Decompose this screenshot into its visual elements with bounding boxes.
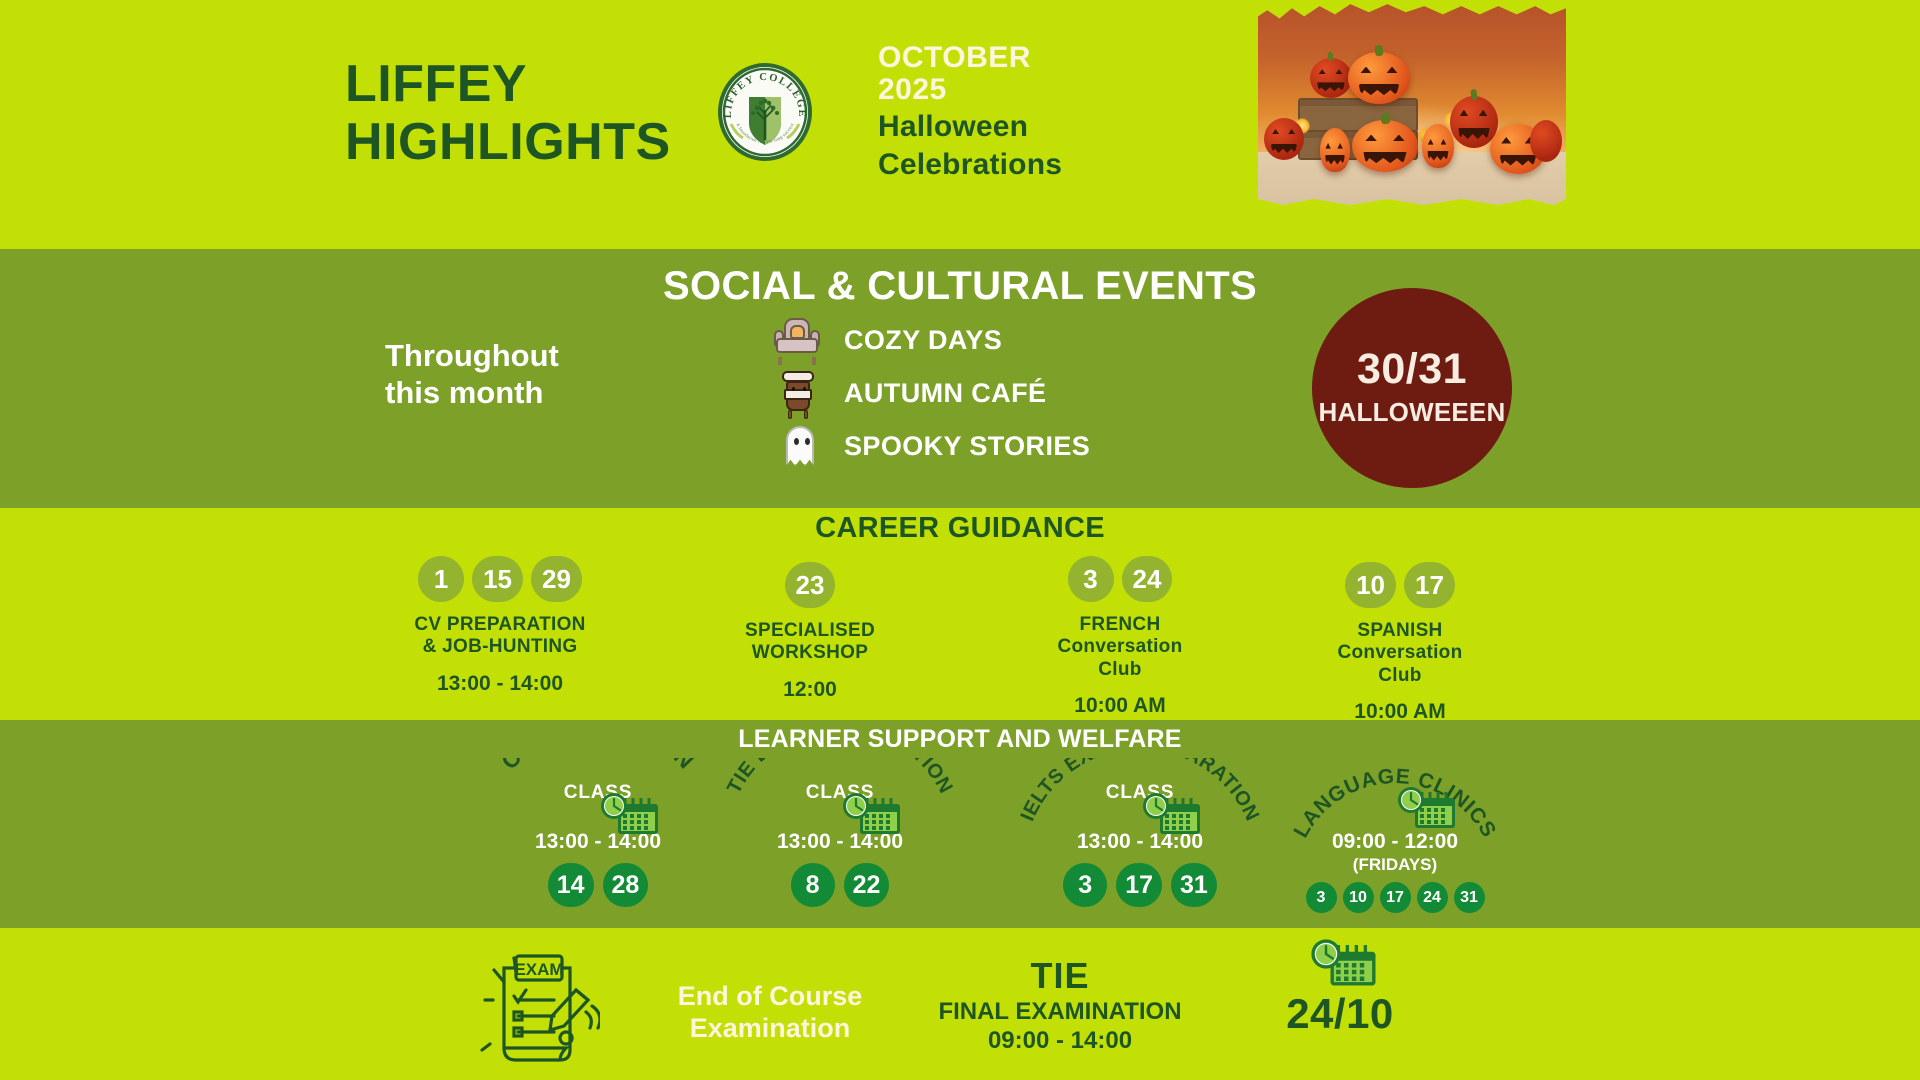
date-badge[interactable]: 31 [1171,863,1217,907]
social-item-label: COZY DAYS [844,325,1002,356]
date-badge-group: 8 22 [700,863,980,907]
career-column-cv: 1 15 29 CV PREPARATION & JOB-HUNTING 13:… [390,556,610,696]
date-pill-group: 3 24 [1000,556,1240,602]
list-item: AUTUMN CAFÉ [770,367,1090,419]
date-badge[interactable]: 8 [791,863,835,907]
date-pill[interactable]: 15 [472,556,523,602]
career-name-line2: WORKSHOP [700,642,920,664]
social-frequency-line1: Throughout [385,338,645,375]
list-item: SPOOKY STORIES [770,420,1090,472]
date-badge[interactable]: 17 [1380,882,1411,913]
career-name-line3: Club [1000,659,1240,681]
career-column-workshop: 23 SPECIALISED WORKSHOP 12:00 [700,562,920,702]
calendar-clock-icon [1308,938,1380,993]
learner-column-conversation: CONVERSATION CLASS [458,758,738,907]
year-label: 2025 [878,74,1062,106]
date-pill-group: 1 15 29 [390,556,610,602]
date-badge[interactable]: 3 [1063,863,1107,907]
date-pill[interactable]: 29 [531,556,582,602]
armchair-icon [770,314,828,366]
page-title-line1: LIFFEY [345,55,671,113]
date-badge[interactable]: 10 [1343,882,1374,913]
halloween-date-badge: 30/31 HALLOWEEEN [1312,288,1512,488]
career-name-line1: CV PREPARATION [390,614,610,636]
career-event-name: SPECIALISED WORKSHOP [700,620,920,665]
date-pill[interactable]: 3 [1068,556,1114,602]
date-badge-group: 3 10 17 24 31 [1255,882,1535,913]
date-badge[interactable]: 28 [603,863,649,907]
month-label: OCTOBER [878,42,1062,74]
career-event-name: SPANISH Conversation Club [1280,620,1520,687]
tie-heading: TIE [900,955,1220,997]
career-guidance-title: CAREER GUIDANCE [0,512,1920,545]
ghost-icon [770,420,828,472]
career-event-time: 13:00 - 14:00 [390,672,610,696]
header-band: LIFFEY HIGHLIGHTS LIFFEY COLLEGE [0,0,1920,247]
social-item-label: AUTUMN CAFÉ [844,378,1046,409]
career-column-french: 3 24 FRENCH Conversation Club 10:00 AM [1000,556,1240,718]
exam-date: 24/10 [1240,990,1440,1038]
career-name-line1: SPECIALISED [700,620,920,642]
date-badge-group: 14 28 [458,863,738,907]
learner-support-title: LEARNER SUPPORT AND WELFARE [0,725,1920,754]
career-event-name: CV PREPARATION & JOB-HUNTING [390,614,610,659]
liffey-college-logo: LIFFEY COLLEGE A foundation for life-lon… [715,62,815,162]
header-sub-line1: Halloween [878,110,1062,145]
date-pill[interactable]: 23 [785,562,836,608]
career-event-time: 10:00 AM [1000,694,1240,718]
date-pill[interactable]: 10 [1345,562,1396,608]
social-events-title: SOCIAL & CULTURAL EVENTS [0,264,1920,309]
learner-note: (FRIDAYS) [1255,855,1535,875]
date-pill[interactable]: 1 [418,556,464,602]
arc-heading: IELTS EXAM PREPARATION CLASS [1000,758,1280,846]
learner-column-tie: TIE EXAM PREPARATION CLASS [700,758,980,907]
exam-paper-pencil-icon: EXAM [470,942,600,1069]
exam-label-line1: End of Course [640,980,900,1012]
social-item-label: SPOOKY STORIES [844,431,1090,462]
date-badge[interactable]: 14 [548,863,594,907]
halloween-badge-date: 30/31 [1357,348,1467,391]
page-title-line2: HIGHLIGHTS [345,113,671,171]
arc-heading: CONVERSATION CLASS [458,758,738,846]
list-item: COZY DAYS [770,314,1090,366]
halloween-pumpkins-photo [1258,0,1566,205]
career-name-line2: Conversation [1280,642,1520,664]
month-block: OCTOBER 2025 Halloween Celebrations [878,42,1062,182]
newsletter-page: LIFFEY HIGHLIGHTS LIFFEY COLLEGE [0,0,1920,1080]
arc-heading: LANGUAGE CLINICS [1255,758,1535,846]
exam-label-line2: Examination [640,1012,900,1044]
date-pill[interactable]: 17 [1404,562,1455,608]
date-badge[interactable]: 24 [1417,882,1448,913]
page-title: LIFFEY HIGHLIGHTS [345,55,671,171]
date-badge[interactable]: 22 [844,863,890,907]
social-frequency-line2: this month [385,375,645,412]
header-sub-line2: Celebrations [878,148,1062,183]
career-column-spanish: 10 17 SPANISH Conversation Club 10:00 AM [1280,562,1520,724]
tie-sub-line1: FINAL EXAMINATION [900,999,1220,1026]
career-name-line2: Conversation [1000,636,1240,658]
date-badge[interactable]: 17 [1116,863,1162,907]
date-pill[interactable]: 24 [1122,556,1173,602]
career-event-time: 12:00 [700,678,920,702]
date-pill-group: 10 17 [1280,562,1520,608]
date-badge[interactable]: 3 [1306,882,1337,913]
arc-heading: TIE EXAM PREPARATION CLASS [700,758,980,846]
tie-sub-line2: 09:00 - 14:00 [900,1028,1220,1055]
career-name-line1: FRENCH [1000,614,1240,636]
learner-column-ielts: IELTS EXAM PREPARATION CLASS [1000,758,1280,907]
learner-column-language-clinics: LANGUAGE CLINICS [1255,758,1535,913]
arc-text: CONVERSATION [496,758,700,774]
career-name-line3: Club [1280,665,1520,687]
career-name-line1: SPANISH [1280,620,1520,642]
exam-icon-word: EXAM [514,960,563,979]
svg-text:CONVERSATION: CONVERSATION [496,758,700,774]
coffee-cup-icon [770,367,828,419]
career-name-line2: & JOB-HUNTING [390,636,610,658]
date-badge-group: 3 17 31 [1000,863,1280,907]
exam-label: End of Course Examination [640,980,900,1045]
date-pill-group: 23 [700,562,920,608]
social-events-list: COZY DAYS AUTUMN CAFÉ SPOOKY STORIES [770,314,1090,473]
date-badge[interactable]: 31 [1454,882,1485,913]
career-event-name: FRENCH Conversation Club [1000,614,1240,681]
tie-exam-block: TIE FINAL EXAMINATION 09:00 - 14:00 [900,955,1220,1055]
halloween-badge-label: HALLOWEEEN [1319,397,1506,428]
social-frequency: Throughout this month [385,338,645,411]
